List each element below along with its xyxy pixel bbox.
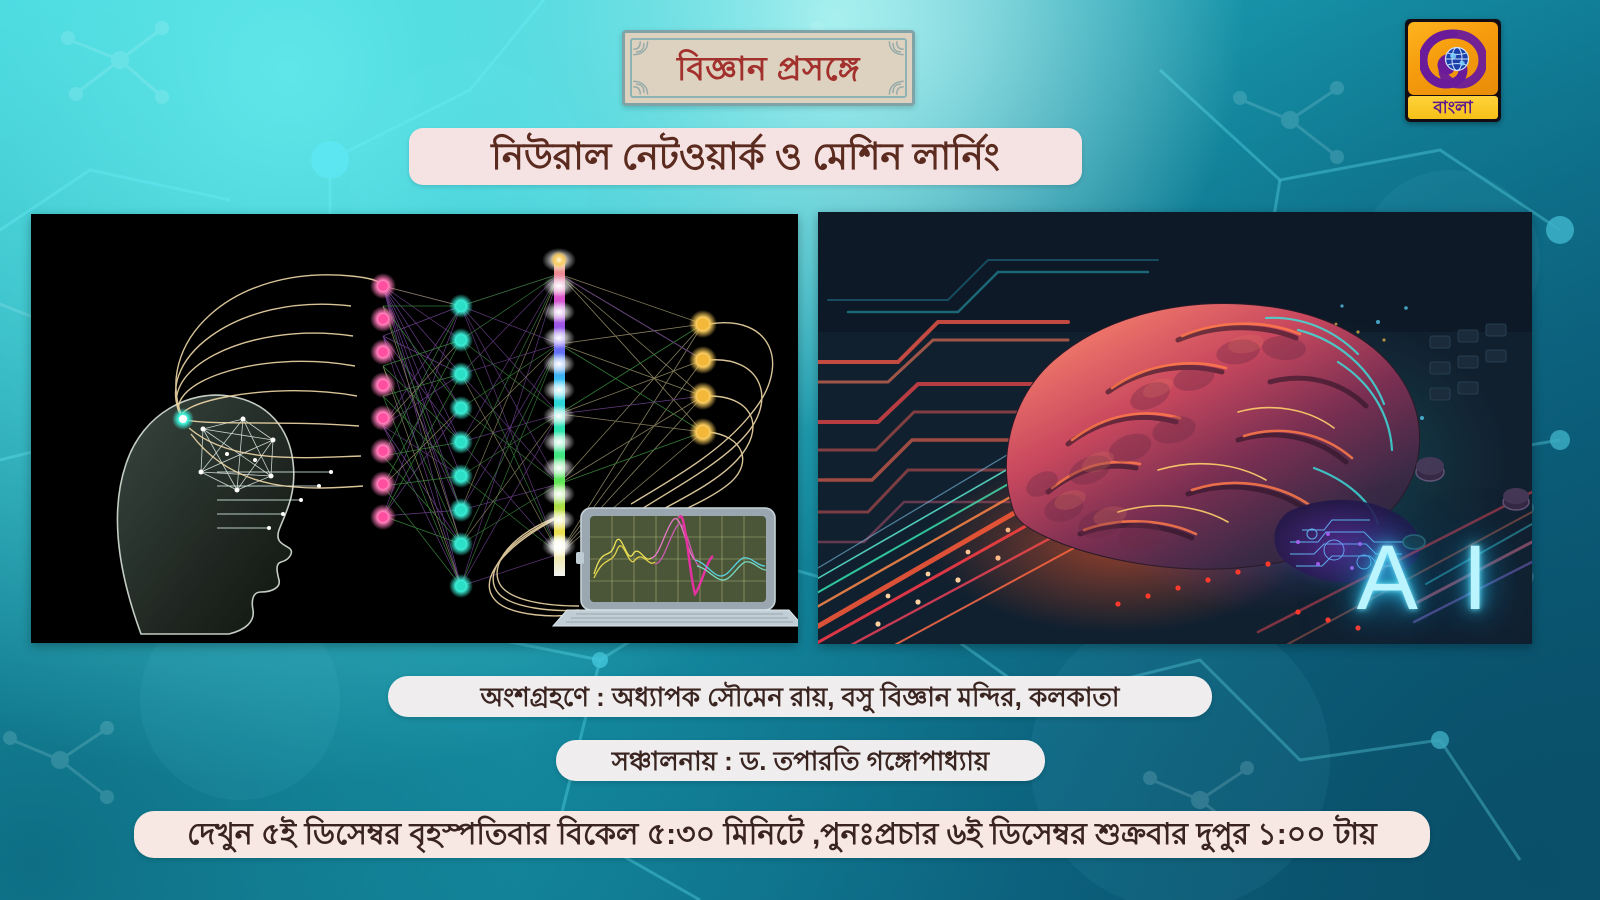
dd-eye-globe-icon	[1420, 29, 1486, 89]
dd-logo-language-label: বাংলা	[1433, 99, 1472, 116]
participants-pill: অংশগ্রহণে : অধ্যাপক সৌমেন রায়, বসু বিজ্…	[388, 676, 1212, 717]
broadcast-promo-slide: বিজ্ঞান প্রসঙ্গে নিউরাল নেটওয়ার্ক ও মেশ…	[0, 0, 1600, 900]
laptop-waveform-display	[553, 508, 798, 626]
banner-corner-ornament-icon	[883, 74, 905, 96]
schedule-text: দেখুন ৫ই ডিসেম্বর বৃহস্পতিবার বিকেল ৫:৩০…	[187, 820, 1377, 850]
neural-network-illustration	[31, 214, 798, 643]
dd-bangla-logo: বাংলা	[1405, 19, 1501, 122]
schedule-pill: দেখুন ৫ই ডিসেম্বর বৃহস্পতিবার বিকেল ৫:৩০…	[134, 811, 1430, 858]
series-banner-text: বিজ্ঞান প্রসঙ্গে	[677, 52, 860, 85]
banner-corner-ornament-icon	[632, 74, 654, 96]
neural-network-graphic	[31, 214, 798, 643]
brain-circuit-board-image: A I	[818, 212, 1532, 644]
dd-logo-language-band: বাংলা	[1408, 96, 1498, 119]
host-pill: সঞ্চালনায় : ড. তপারতি গঙ্গোপাধ্যায়	[556, 740, 1045, 781]
episode-title-pill: নিউরাল নেটওয়ার্ক ও মেশিন লার্নিং	[409, 128, 1082, 185]
host-text: সঞ্চালনায় : ড. তপারতি গঙ্গোপাধ্যায়	[612, 748, 989, 774]
banner-corner-ornament-icon	[883, 40, 905, 62]
dd-logo-badge	[1408, 22, 1498, 95]
banner-corner-ornament-icon	[632, 40, 654, 62]
participants-text: অংশগ্রহণে : অধ্যাপক সৌমেন রায়, বসু বিজ্…	[481, 684, 1120, 710]
episode-title-text: নিউরাল নেটওয়ার্ক ও মেশিন লার্নিং	[491, 138, 999, 175]
series-banner: বিজ্ঞান প্রসঙ্গে	[622, 30, 915, 106]
ai-overlay-text: A I	[1357, 532, 1500, 624]
